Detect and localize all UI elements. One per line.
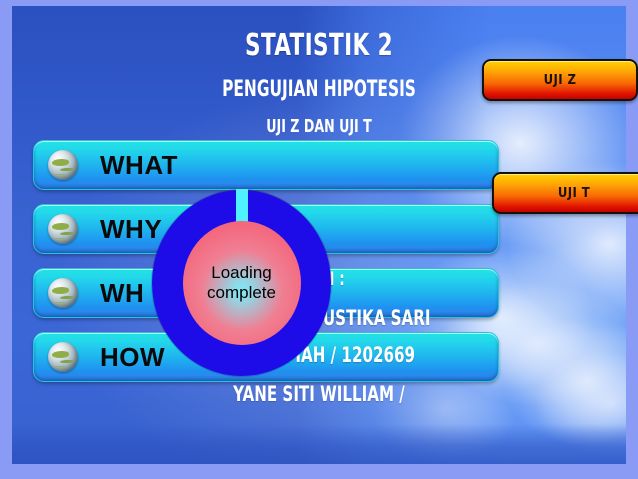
menu-button-label: WHY [100,214,162,245]
slide-title: STATISTIK 2 [64,28,574,63]
loading-status-line-1: Loading [211,263,272,283]
loading-spinner: Loading complete [152,190,331,376]
uji-z-button[interactable]: UJI Z [482,59,638,101]
slide-subtitle-2: UJI Z DAN UJI T [70,116,568,137]
credits-line-2: SITI ROFIAH / 1202669 [64,343,574,367]
background-bottom-band [12,424,626,464]
globe-icon [48,214,78,244]
menu-button-what[interactable]: WHAT [33,140,499,190]
spinner-status: Loading complete [183,221,301,345]
presentation-slide: STATISTIK 2 PENGUJIAN HIPOTESIS UJI Z DA… [0,0,638,479]
uji-t-button[interactable]: UJI T [492,172,638,214]
uji-z-label: UJI Z [544,73,577,88]
menu-button-label: WHAT [100,150,178,181]
uji-t-label: UJI T [558,186,590,201]
loading-status-line-2: complete [207,283,276,303]
globe-icon [48,150,78,180]
credits-line-3: YANE SITI WILLIAM / [64,382,574,406]
spinner-tick-icon [236,189,248,223]
